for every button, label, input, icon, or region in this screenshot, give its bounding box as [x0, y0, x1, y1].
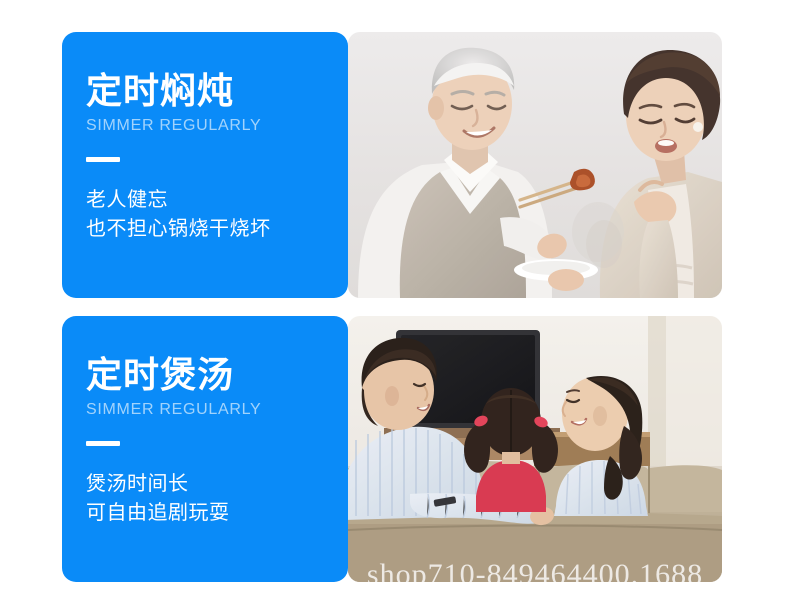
elderly-couple-eating-photo	[348, 32, 722, 298]
feature-row-2: 定时煲汤 SIMMER REGULARLY 煲汤时间长 可自由追剧玩耍	[0, 316, 790, 582]
family-watching-tv-photo: shop710-849464400.1688	[348, 316, 722, 582]
card-title: 定时煲汤	[86, 356, 348, 394]
card-subtitle: SIMMER REGULARLY	[86, 400, 348, 419]
info-card-simmer-soup: 定时煲汤 SIMMER REGULARLY 煲汤时间长 可自由追剧玩耍	[62, 316, 348, 582]
card-body-line-2: 可自由追剧玩耍	[86, 499, 348, 528]
promo-page: 定时焖炖 SIMMER REGULARLY 老人健忘 也不担心锅烧干烧坏	[0, 0, 790, 613]
feature-row-1: 定时焖炖 SIMMER REGULARLY 老人健忘 也不担心锅烧干烧坏	[0, 32, 790, 298]
card-body-line-1: 煲汤时间长	[86, 470, 348, 499]
card-body-line-1: 老人健忘	[86, 186, 348, 215]
card-title: 定时焖炖	[86, 72, 348, 110]
card-body-line-2: 也不担心锅烧干烧坏	[86, 215, 348, 244]
divider	[86, 157, 120, 162]
info-card-simmer-stew: 定时焖炖 SIMMER REGULARLY 老人健忘 也不担心锅烧干烧坏	[62, 32, 348, 298]
divider	[86, 441, 120, 446]
card-subtitle: SIMMER REGULARLY	[86, 116, 348, 135]
